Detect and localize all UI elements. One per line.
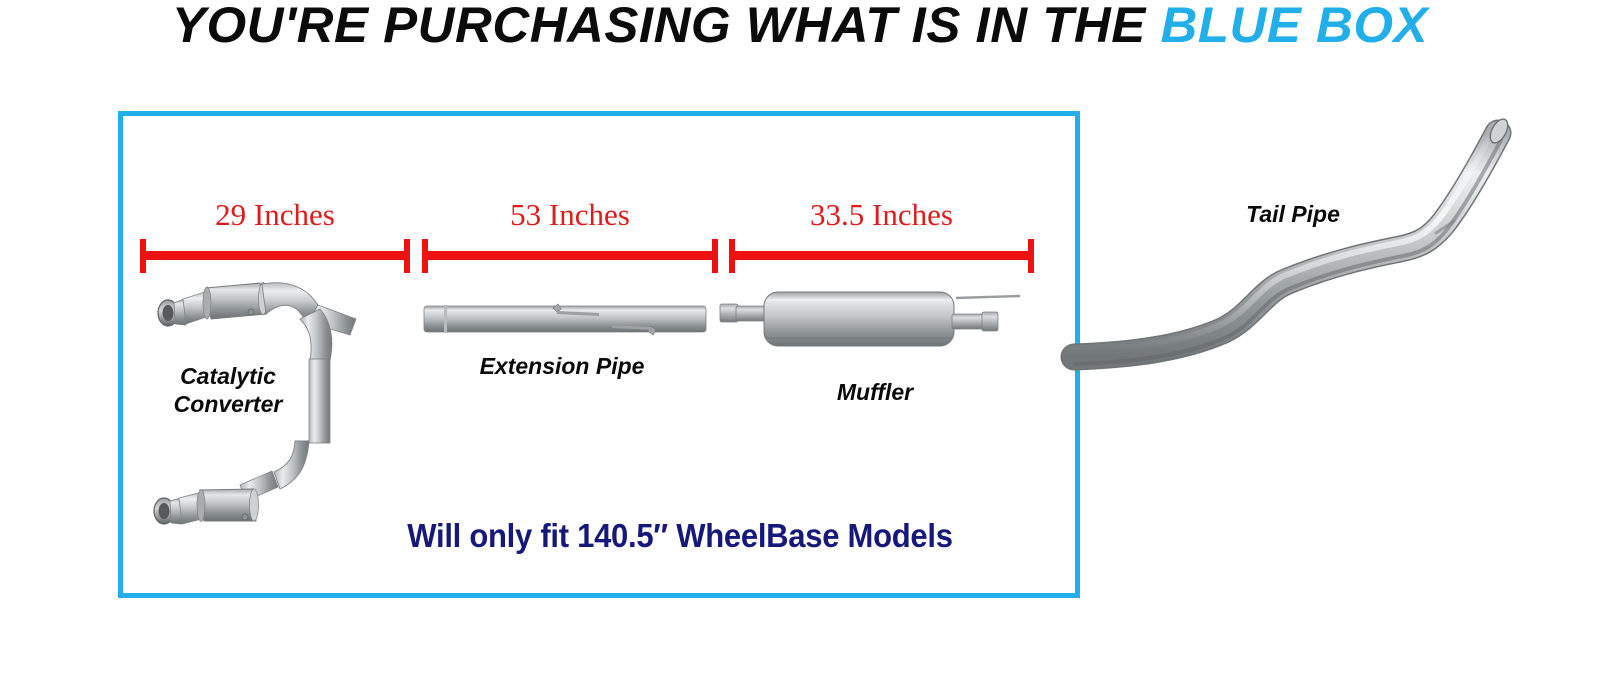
fitment-note: Will only fit 140.5″ WheelBase Models xyxy=(351,516,1009,556)
muffler-outlet-collar xyxy=(982,312,998,331)
dimension-29-tick-right xyxy=(404,239,410,273)
tail-pipe-artwork xyxy=(1070,105,1590,370)
muffler-hanger-rod xyxy=(956,296,1020,298)
product-diagram-page: YOU'RE PURCHASING WHAT IS IN THE BLUE BO… xyxy=(0,0,1600,685)
lower-converter-flange xyxy=(154,498,182,524)
muffler-inlet-pipe xyxy=(736,306,766,321)
muffler-inlet-collar xyxy=(720,304,738,322)
dimension-53-inches: 53 Inches xyxy=(422,232,718,274)
page-title-accent: BLUE BOX xyxy=(1160,0,1428,53)
lower-bend xyxy=(274,441,309,489)
upper-converter-canister xyxy=(206,283,266,319)
muffler-outlet-pipe xyxy=(952,314,986,329)
muffler-artwork xyxy=(720,288,1032,358)
extension-pipe-body xyxy=(424,306,706,332)
dimension-53-tick-right xyxy=(712,239,718,273)
part-label-extension-pipe: Extension Pipe xyxy=(462,352,662,380)
extension-pipe-collar xyxy=(444,305,447,333)
part-label-tail-pipe: Tail Pipe xyxy=(1218,200,1368,228)
dimension-33-5-tick-right xyxy=(1028,239,1034,273)
extension-pipe-artwork xyxy=(424,300,706,350)
dimension-33-5-label: 33.5 Inches xyxy=(729,198,1034,232)
upper-converter-flange xyxy=(158,299,186,326)
dimension-53-label: 53 Inches xyxy=(422,198,718,232)
dimension-53-line xyxy=(425,251,715,260)
page-title-main: YOU'RE PURCHASING WHAT IS IN THE xyxy=(172,0,1161,53)
tail-pipe-shadow xyxy=(1076,140,1501,364)
dimension-33-5-line xyxy=(732,251,1031,260)
dimension-29-inches: 29 Inches xyxy=(140,232,410,274)
dimension-33-5-inches: 33.5 Inches xyxy=(729,232,1034,274)
dimension-29-line xyxy=(143,251,407,260)
page-title: YOU'RE PURCHASING WHAT IS IN THE BLUE BO… xyxy=(0,0,1600,54)
dimension-29-label: 29 Inches xyxy=(140,198,410,232)
part-label-muffler: Muffler xyxy=(800,378,950,406)
part-label-catalytic-converter: Catalytic Converter xyxy=(148,362,308,418)
down-pipe xyxy=(309,359,330,443)
